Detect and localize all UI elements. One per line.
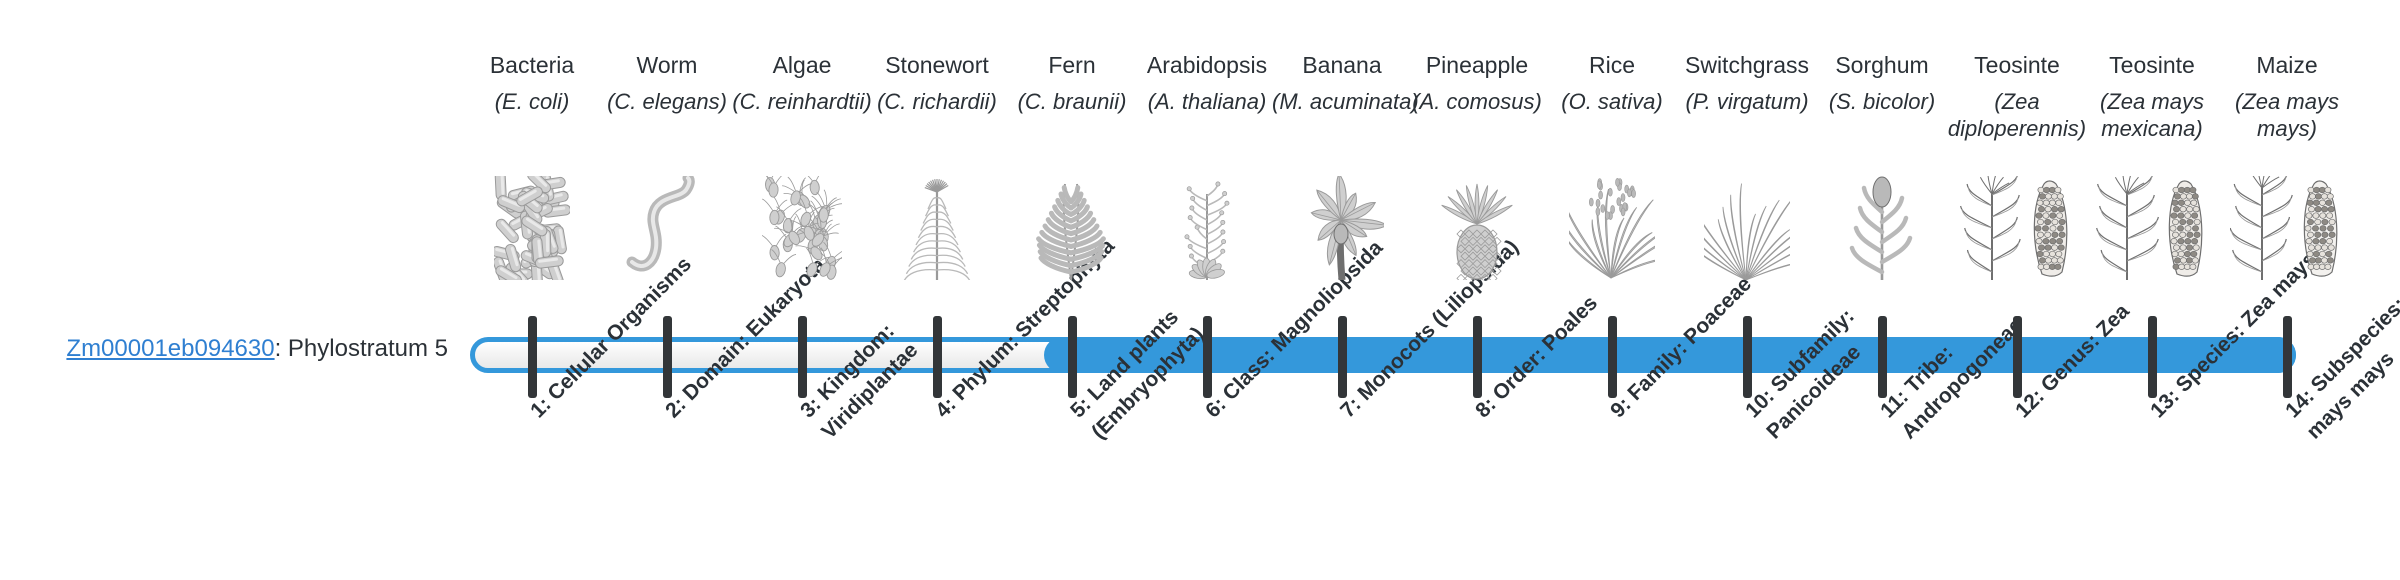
species-latin-name: (C. elegans) xyxy=(597,88,737,115)
species-common-name: Pineapple xyxy=(1407,50,1547,80)
phylostratum-tick-3[interactable] xyxy=(798,316,807,398)
species-column-10: Switchgrass(P. virgatum) xyxy=(1677,50,1817,115)
species-column-2: Worm(C. elegans) xyxy=(597,50,737,115)
phylostratum-text: Phylostratum 5 xyxy=(288,335,448,362)
species-common-name: Worm xyxy=(597,50,737,80)
species-latin-name: (M. acuminata) xyxy=(1272,88,1412,115)
phylostratum-tick-9[interactable] xyxy=(1608,316,1617,398)
species-latin-name: (Zea mays mays) xyxy=(2217,88,2357,142)
maize-plant-icon xyxy=(2217,168,2357,280)
bacteria-icon xyxy=(462,168,602,280)
phylostratum-tick-13[interactable] xyxy=(2148,316,2157,398)
phylostratum-tick-1[interactable] xyxy=(528,316,537,398)
arabidopsis-icon xyxy=(1137,168,1277,280)
phylostratum-tick-8[interactable] xyxy=(1473,316,1482,398)
species-column-14: Maize(Zea mays mays) xyxy=(2217,50,2357,142)
species-latin-name: (A. thaliana) xyxy=(1137,88,1277,115)
fern-icon xyxy=(1002,168,1142,280)
species-common-name: Switchgrass xyxy=(1677,50,1817,80)
species-latin-name: (C. richardii) xyxy=(867,88,1007,115)
teosinte-plant-icon xyxy=(2082,168,2222,280)
species-column-1: Bacteria(E. coli) xyxy=(462,50,602,115)
species-common-name: Bacteria xyxy=(462,50,602,80)
rice-icon xyxy=(1542,168,1682,280)
phylostratum-tick-10[interactable] xyxy=(1743,316,1752,398)
species-latin-name: (P. virgatum) xyxy=(1677,88,1817,115)
gene-phylostratum-label: Zm00001eb094630: Phylostratum 5 xyxy=(0,334,448,364)
switchgrass-icon xyxy=(1677,168,1817,280)
species-latin-name: (E. coli) xyxy=(462,88,602,115)
phylostratum-timeline: Zm00001eb094630: Phylostratum 5 Bacteria… xyxy=(0,0,2400,580)
species-latin-name: (Zea mays mexicana) xyxy=(2082,88,2222,142)
phylostratum-tick-7[interactable] xyxy=(1338,316,1347,398)
species-column-13: Teosinte(Zea mays mexicana) xyxy=(2082,50,2222,142)
phylostratum-tick-4[interactable] xyxy=(933,316,942,398)
species-latin-name: (A. comosus) xyxy=(1407,88,1547,115)
worm-icon xyxy=(597,168,737,280)
pineapple-icon xyxy=(1407,168,1547,280)
banana-icon xyxy=(1272,168,1412,280)
species-column-6: Arabidopsis(A. thaliana) xyxy=(1137,50,1277,115)
species-latin-name: (O. sativa) xyxy=(1542,88,1682,115)
gene-id-link[interactable]: Zm00001eb094630 xyxy=(66,335,274,362)
phylostratum-tick-2[interactable] xyxy=(663,316,672,398)
species-column-7: Banana(M. acuminata) xyxy=(1272,50,1412,115)
species-common-name: Arabidopsis xyxy=(1137,50,1277,80)
species-column-11: Sorghum(S. bicolor) xyxy=(1812,50,1952,115)
phylostratum-tick-11[interactable] xyxy=(1878,316,1887,398)
sorghum-icon xyxy=(1812,168,1952,280)
species-column-9: Rice(O. sativa) xyxy=(1542,50,1682,115)
gene-label-separator: : xyxy=(275,335,288,362)
species-latin-name: (S. bicolor) xyxy=(1812,88,1952,115)
species-column-12: Teosinte(Zea diploperennis) xyxy=(1947,50,2087,142)
species-column-8: Pineapple(A. comosus) xyxy=(1407,50,1547,115)
species-column-4: Stonewort(C. richardii) xyxy=(867,50,1007,115)
algae-icon xyxy=(732,168,872,280)
stonewort-icon xyxy=(867,168,1007,280)
species-common-name: Banana xyxy=(1272,50,1412,80)
species-latin-name: (C. reinhardtii) xyxy=(732,88,872,115)
species-common-name: Fern xyxy=(1002,50,1142,80)
species-common-name: Maize xyxy=(2217,50,2357,80)
species-common-name: Teosinte xyxy=(1947,50,2087,80)
phylostratum-tick-14[interactable] xyxy=(2283,316,2292,398)
phylostratum-tick-12[interactable] xyxy=(2013,316,2022,398)
species-common-name: Stonewort xyxy=(867,50,1007,80)
species-latin-name: (C. braunii) xyxy=(1002,88,1142,115)
species-column-5: Fern(C. braunii) xyxy=(1002,50,1142,115)
species-common-name: Teosinte xyxy=(2082,50,2222,80)
teosinte-plant-icon xyxy=(1947,168,2087,280)
species-latin-name: (Zea diploperennis) xyxy=(1947,88,2087,142)
species-common-name: Rice xyxy=(1542,50,1682,80)
phylostratum-tick-5[interactable] xyxy=(1068,316,1077,398)
species-common-name: Algae xyxy=(732,50,872,80)
phylostratum-tick-6[interactable] xyxy=(1203,316,1212,398)
species-common-name: Sorghum xyxy=(1812,50,1952,80)
species-column-3: Algae(C. reinhardtii) xyxy=(732,50,872,115)
